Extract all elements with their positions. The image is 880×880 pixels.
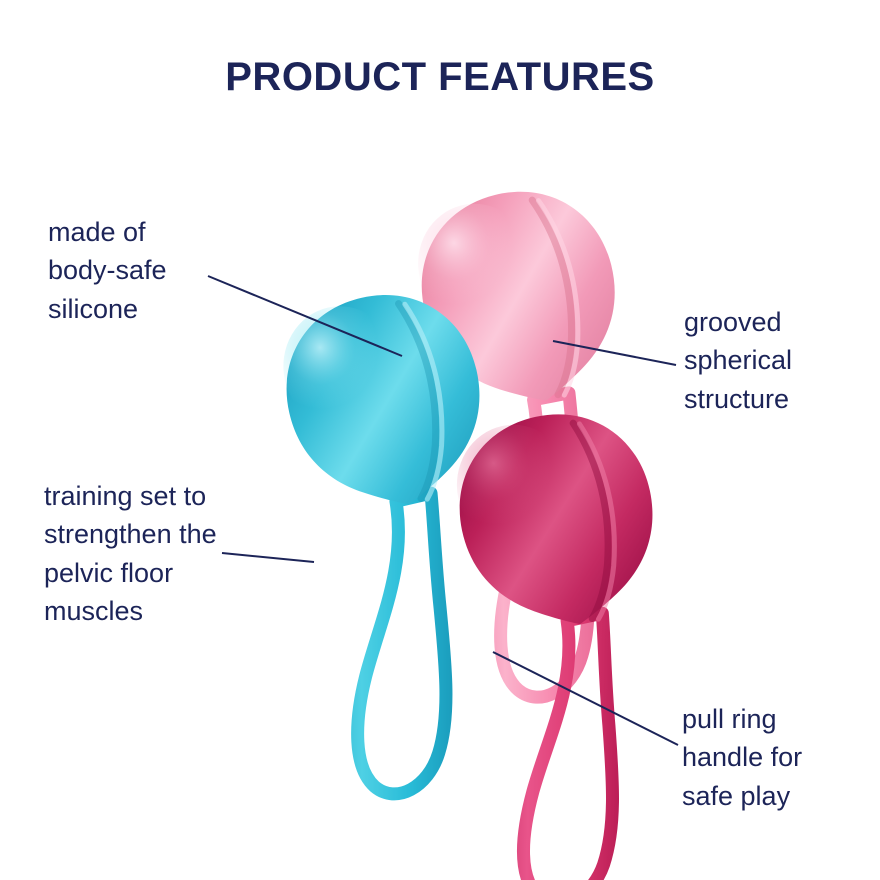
callout-pull-ring-handle-safe-play: pull ring handle for safe play	[682, 700, 880, 815]
callout-grooved-spherical-structure: grooved spherical structure	[684, 303, 880, 418]
callout-made-of-body-safe-silicone: made of body-safe silicone	[48, 213, 278, 328]
product-features-infographic: PRODUCT FEATURES	[0, 0, 880, 880]
callout-training-set-pelvic-floor: training set to strengthen the pelvic fl…	[44, 477, 294, 630]
